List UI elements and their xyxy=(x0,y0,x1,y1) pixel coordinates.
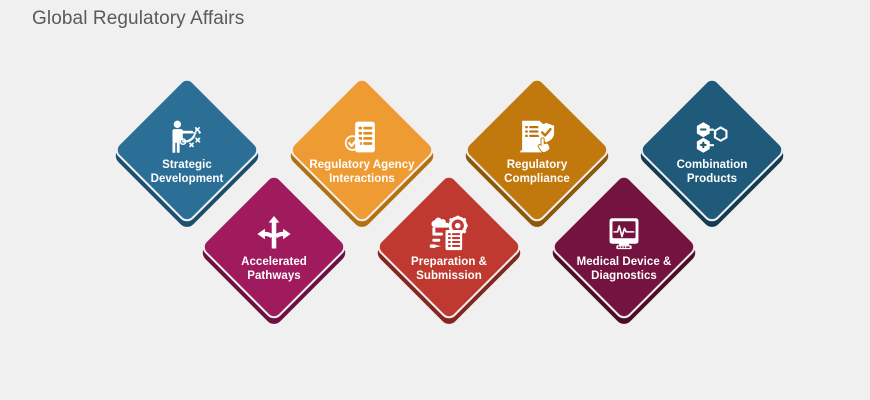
diamond-face xyxy=(374,172,524,322)
diamond-face xyxy=(199,172,349,322)
diamond-diagram: Strategic Development Regulatory Agency … xyxy=(0,0,870,400)
diamond-shape xyxy=(199,172,349,322)
diamond-node-preparation-submission[interactable]: Preparation & Submission xyxy=(374,172,524,322)
diamond-face xyxy=(549,172,699,322)
diamond-shape xyxy=(374,172,524,322)
diamond-shape xyxy=(549,172,699,322)
diamond-node-medical-device-diagnostics[interactable]: Medical Device & Diagnostics xyxy=(549,172,699,322)
diamond-node-accelerated-pathways[interactable]: Accelerated Pathways xyxy=(199,172,349,322)
